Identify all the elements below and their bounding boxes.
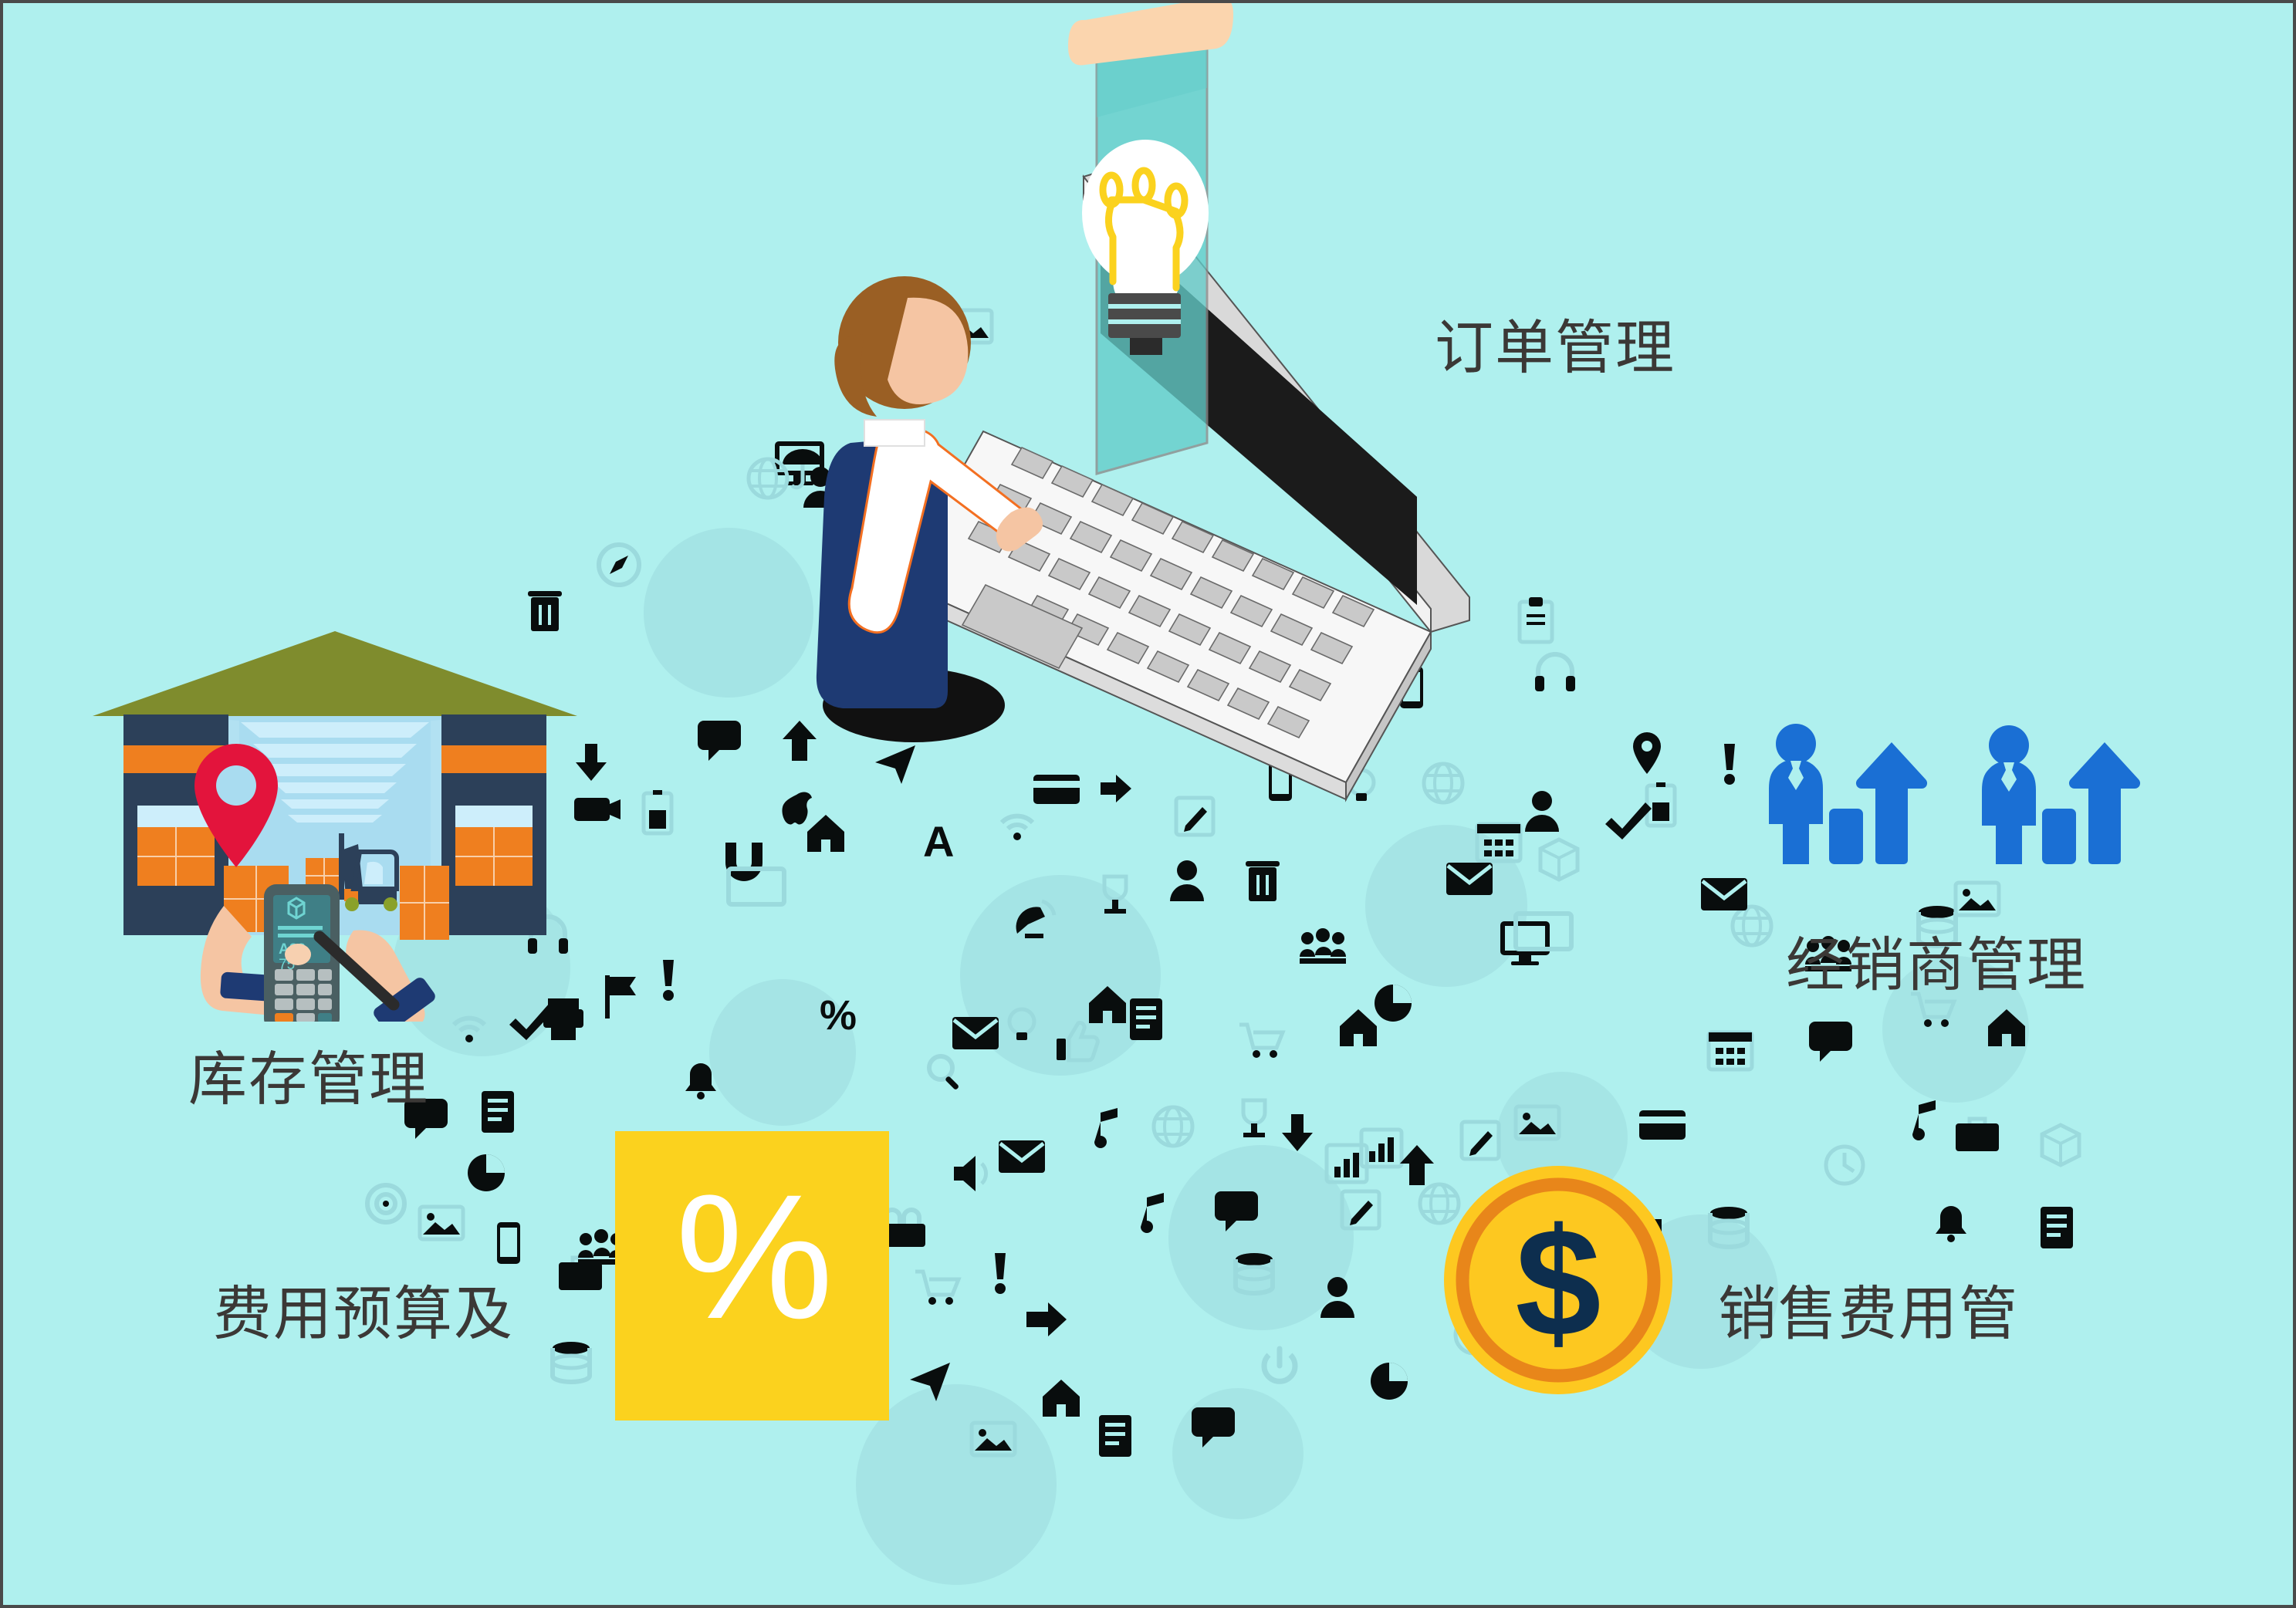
label-sales-expense: 销售费用管	[1718, 1266, 2019, 1351]
paper-roll	[1068, 0, 1233, 65]
percent-tile: %	[615, 1131, 889, 1421]
warehouse-illustration: A23 75	[88, 620, 582, 1022]
label-inventory-management: 库存管理	[188, 1032, 429, 1116]
person-at-laptop	[817, 276, 1043, 742]
dealer-growth-icons	[1755, 721, 2156, 906]
dealer-arrow-1	[1856, 742, 1927, 864]
percent-symbol: %	[615, 1154, 889, 1359]
dealer-figure-1	[1769, 724, 1823, 864]
label-expense-budget: 费用预算及	[213, 1266, 514, 1351]
dealer-bar-2	[2042, 809, 2076, 864]
warehouse-roof	[93, 631, 577, 716]
warehouse-pillar-right	[441, 714, 546, 935]
dealer-figure-2	[1982, 725, 2036, 864]
dealer-bar-1	[1829, 809, 1863, 864]
label-dealer-management: 经销商管理	[1786, 917, 2087, 1002]
coin-svg: $	[1442, 1164, 1674, 1396]
coin-dollar-glyph: $	[1515, 1197, 1601, 1369]
dollar-coin-icon: $	[1442, 1164, 1674, 1396]
dealer-arrow-2	[2069, 742, 2140, 864]
dealers-svg	[1755, 721, 2156, 906]
laptop-svg	[790, 11, 1531, 790]
laptop-illustration	[790, 11, 1531, 790]
infographic-canvas: % $ A	[0, 0, 2296, 1608]
bulb-base	[1108, 293, 1181, 338]
label-order-management: 订单管理	[1435, 300, 1676, 385]
warehouse-svg: A23 75	[88, 620, 582, 1022]
